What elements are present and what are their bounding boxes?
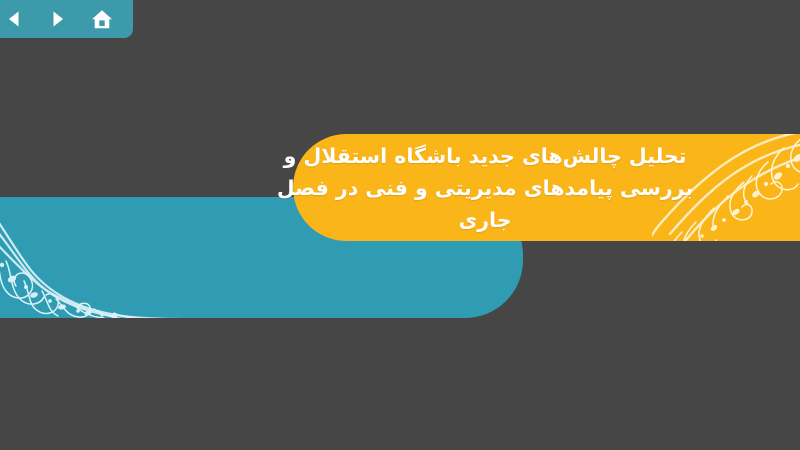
orange-arabesque-ornament [652, 134, 800, 241]
home-icon [91, 9, 113, 30]
next-slide-button[interactable] [45, 7, 71, 31]
home-button[interactable] [89, 7, 115, 31]
previous-slide-button[interactable] [1, 7, 27, 31]
title-banner [293, 134, 800, 241]
triangle-right-icon [48, 9, 68, 29]
teal-arabesque-ornament [0, 197, 180, 318]
slide-navigation-bar[interactable] [0, 0, 133, 38]
triangle-left-icon [4, 9, 24, 29]
presentation-slide: تحلیل چالش‌های جدید باشگاه استقلال و برر… [0, 0, 800, 450]
